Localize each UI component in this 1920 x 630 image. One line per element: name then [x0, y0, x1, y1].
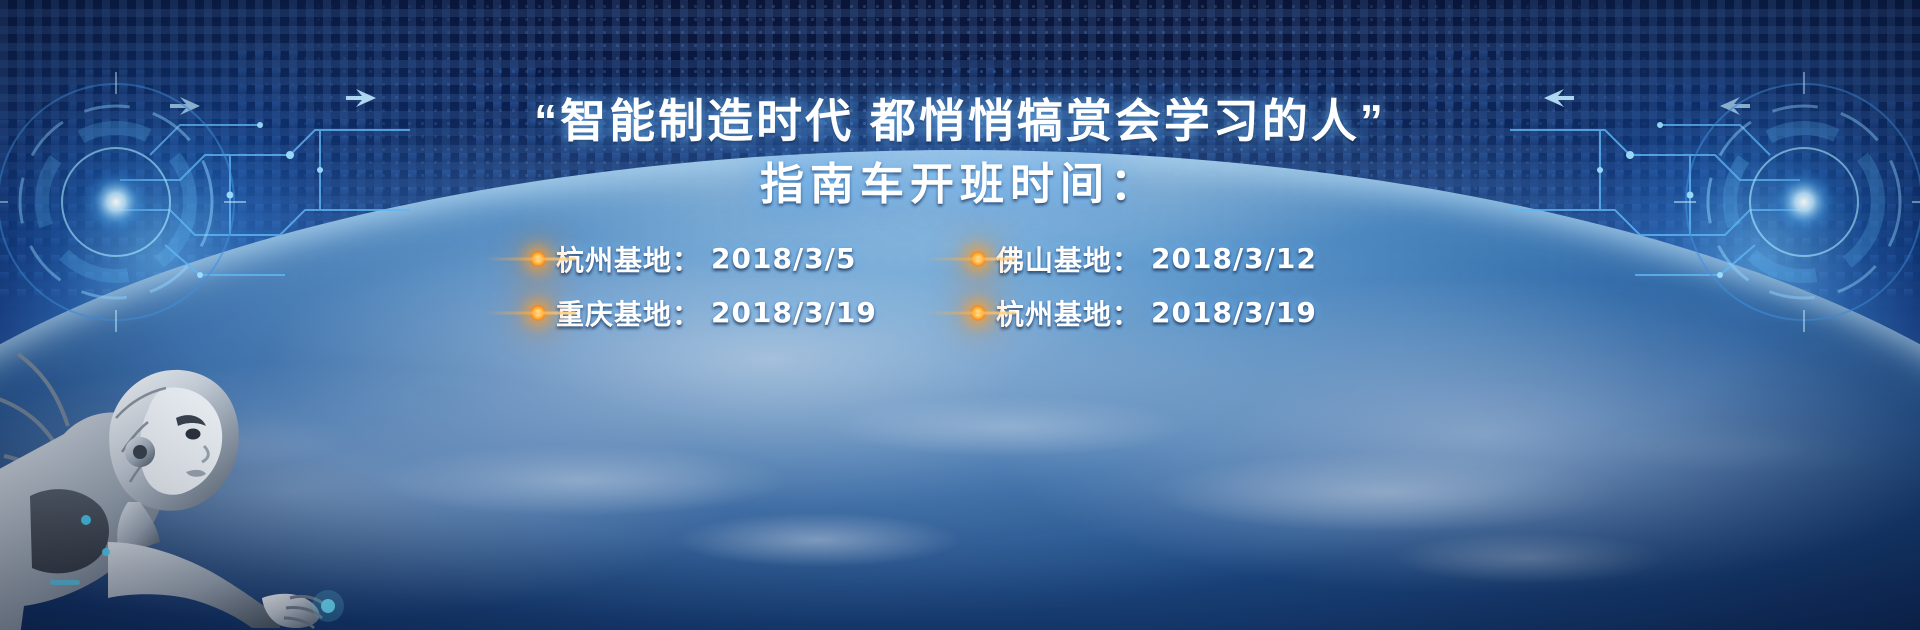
start-date: 2018/3/19: [711, 296, 877, 329]
schedule-item[interactable]: 杭州基地： 2018/3/5: [530, 239, 950, 279]
campus-label: 杭州基地：: [996, 293, 1141, 333]
banner-text-block: “智能制造时代 都悄悄犒赏会学习的人” 指南车开班时间： 杭州基地： 2018/…: [0, 0, 1920, 347]
campus-label: 重庆基地：: [556, 293, 701, 333]
start-date: 2018/3/19: [1151, 296, 1317, 329]
schedule-list: 杭州基地： 2018/3/5 佛山基地： 2018/3/12 重庆基地： 201…: [520, 239, 1400, 333]
spark-dot-icon: [530, 251, 546, 267]
campus-label: 佛山基地：: [996, 239, 1141, 279]
start-date: 2018/3/12: [1151, 242, 1317, 275]
campus-label: 杭州基地：: [556, 239, 701, 279]
schedule-row: 重庆基地： 2018/3/19 杭州基地： 2018/3/19: [520, 293, 1400, 333]
spark-dot-icon: [970, 251, 986, 267]
schedule-item[interactable]: 杭州基地： 2018/3/19: [970, 293, 1390, 333]
start-date: 2018/3/5: [711, 242, 856, 275]
spark-dot-icon: [970, 305, 986, 321]
schedule-item[interactable]: 重庆基地： 2018/3/19: [530, 293, 950, 333]
promo-banner: “智能制造时代 都悄悄犒赏会学习的人” 指南车开班时间： 杭州基地： 2018/…: [0, 0, 1920, 630]
spark-dot-icon: [530, 305, 546, 321]
page-title: “智能制造时代 都悄悄犒赏会学习的人”: [0, 0, 1920, 147]
schedule-row: 杭州基地： 2018/3/5 佛山基地： 2018/3/12: [520, 239, 1400, 279]
robot-icon: [0, 306, 390, 630]
subtitle: 指南车开班时间：: [0, 161, 1920, 209]
schedule-item[interactable]: 佛山基地： 2018/3/12: [970, 239, 1390, 279]
